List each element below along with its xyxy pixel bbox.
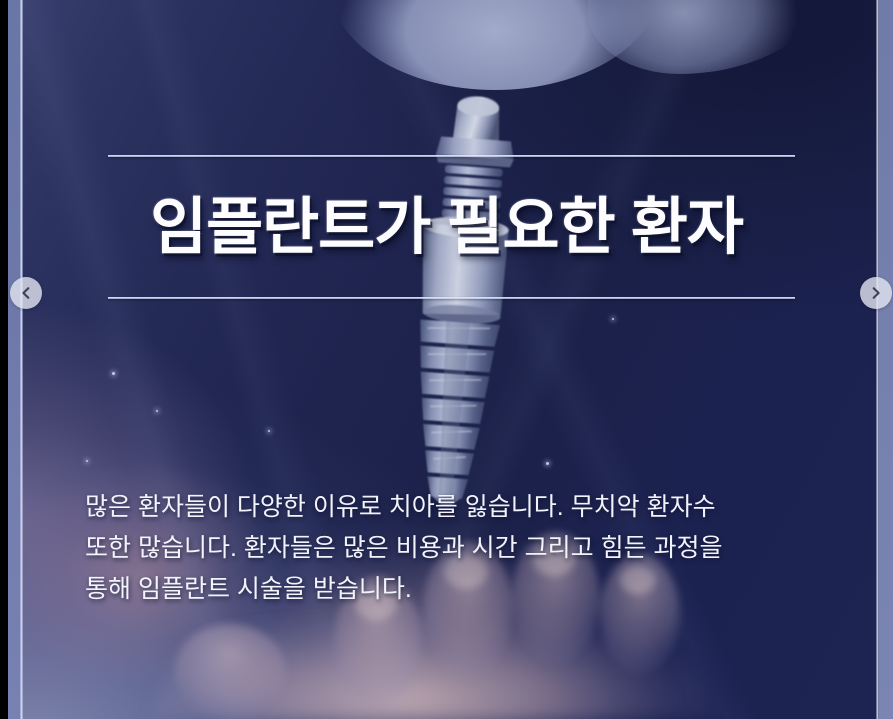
title-rule-top: [108, 155, 795, 157]
chevron-right-icon: [869, 286, 883, 300]
viewport-left-gutter: [0, 0, 8, 719]
slide-description: 많은 환자들이 다양한 이유로 치아를 잃습니다. 무치악 환자수 또한 많습니…: [85, 487, 827, 610]
description-line: 많은 환자들이 다양한 이유로 치아를 잃습니다. 무치악 환자수: [85, 487, 827, 528]
slide-stage: 임플란트가 필요한 환자 많은 환자들이 다양한 이유로 치아를 잃습니다. 무…: [0, 0, 893, 719]
frame-band-right: [879, 0, 893, 719]
carousel-prev-button[interactable]: [10, 277, 42, 309]
carousel-next-button[interactable]: [860, 277, 892, 309]
frame-line-right: [876, 0, 879, 719]
page-title: 임플란트가 필요한 환자: [0, 176, 893, 266]
chevron-left-icon: [19, 286, 33, 300]
slide-content: 임플란트가 필요한 환자 많은 환자들이 다양한 이유로 치아를 잃습니다. 무…: [0, 0, 893, 719]
description-line: 통해 임플란트 시술을 받습니다.: [85, 569, 827, 610]
frame-line-left: [20, 0, 23, 719]
description-line: 또한 많습니다. 환자들은 많은 비용과 시간 그리고 힘든 과정을: [85, 528, 827, 569]
title-rule-bottom: [108, 297, 795, 299]
